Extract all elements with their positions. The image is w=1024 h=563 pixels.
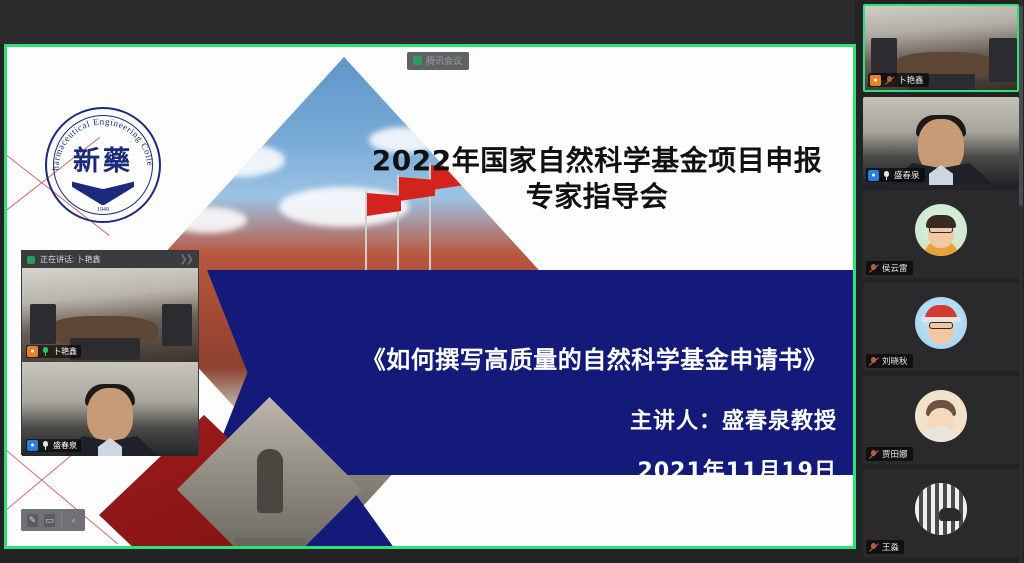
participant-tile[interactable]: 王淼 bbox=[863, 469, 1019, 557]
mic-muted-icon bbox=[868, 449, 879, 460]
participant-tile[interactable]: ● 盛春泉 bbox=[863, 97, 1019, 185]
participant-sidebar[interactable]: ● 卜艳鑫 正在讲话: 卜艳鑫 ❯❯ ● 盛春泉 bbox=[858, 0, 1024, 563]
presentation-slide: Pharmaceutical Engineering College 新藥 19… bbox=[7, 47, 853, 546]
slide-speaker: 主讲人：盛春泉教授 bbox=[417, 403, 837, 435]
annotation-toolbar[interactable]: ✎ ▭ ‹ bbox=[21, 509, 85, 531]
avatar bbox=[915, 483, 967, 535]
slide-headline: 2022年国家自然科学基金项目申报 专家指导会 bbox=[337, 143, 856, 215]
comment-icon[interactable]: ▭ bbox=[44, 514, 55, 527]
participant-name: 侯云雷 bbox=[882, 262, 908, 274]
mic-on-icon bbox=[41, 346, 50, 357]
participant-nametag: 刘晓秋 bbox=[866, 354, 913, 368]
floating-tile-nametag: ● 卜艳鑫 bbox=[26, 345, 81, 358]
collapse-arrow-icon[interactable]: ‹ bbox=[68, 514, 79, 527]
floating-video-tile[interactable]: ● 卜艳鑫 bbox=[22, 268, 198, 362]
headline-line-2: 专家指导会 bbox=[337, 179, 856, 215]
watermark-label: 腾讯会议 bbox=[426, 54, 462, 67]
tencent-logo-icon bbox=[413, 56, 422, 65]
slide-date: 2021年11月19日 bbox=[417, 453, 837, 485]
chevron-collapse-icon[interactable]: ❯❯ bbox=[179, 254, 192, 265]
logo-cn-text: 新藥 bbox=[47, 139, 159, 178]
participant-name: 王淼 bbox=[882, 541, 899, 553]
host-badge-icon: ● bbox=[27, 346, 38, 357]
participant-nametag: 王淼 bbox=[866, 540, 904, 554]
mic-muted-icon bbox=[868, 356, 879, 367]
participant-tile[interactable]: 贾田娜 bbox=[863, 376, 1019, 464]
mic-muted-icon bbox=[868, 263, 879, 274]
mic-muted-icon bbox=[884, 75, 895, 86]
participant-nametag: 贾田娜 bbox=[866, 447, 913, 461]
participant-tile[interactable]: 侯云雷 bbox=[863, 190, 1019, 278]
host-badge-icon: ● bbox=[870, 75, 881, 86]
participant-tile[interactable]: 刘晓秋 bbox=[863, 283, 1019, 371]
participant-name: 卜艳鑫 bbox=[898, 74, 924, 86]
floating-speaking-label: 正在讲话: 卜艳鑫 bbox=[40, 254, 100, 265]
avatar bbox=[915, 204, 967, 256]
member-badge-icon: ● bbox=[868, 170, 879, 181]
shared-screen-content: Pharmaceutical Engineering College 新藥 19… bbox=[7, 47, 853, 546]
participant-name: 贾田娜 bbox=[882, 448, 908, 460]
speaking-indicator-icon bbox=[27, 256, 35, 264]
floating-video-panel[interactable]: 正在讲话: 卜艳鑫 ❯❯ ● 卜艳鑫 bbox=[21, 250, 199, 455]
participant-nametag: 侯云雷 bbox=[866, 261, 913, 275]
participant-name: 盛春泉 bbox=[894, 169, 920, 181]
shared-screen-region[interactable]: Pharmaceutical Engineering College 新藥 19… bbox=[4, 44, 856, 549]
headline-line-1: 2022年国家自然科学基金项目申报 bbox=[372, 144, 822, 177]
floating-video-tile[interactable]: ● 盛春泉 bbox=[22, 362, 198, 456]
annotate-icon[interactable]: ✎ bbox=[27, 514, 38, 527]
participant-nametag: ● 盛春泉 bbox=[866, 168, 925, 182]
participant-name: 盛春泉 bbox=[53, 440, 77, 451]
participant-nametag: ● 卜艳鑫 bbox=[868, 73, 929, 87]
floating-tile-nametag: ● 盛春泉 bbox=[26, 439, 81, 452]
meeting-window: Pharmaceutical Engineering College 新藥 19… bbox=[0, 0, 1024, 563]
logo-year: 1949 bbox=[47, 207, 159, 213]
participant-name: 卜艳鑫 bbox=[53, 346, 77, 357]
mic-on-icon bbox=[41, 440, 50, 451]
toolbar-divider bbox=[61, 513, 62, 527]
avatar bbox=[915, 297, 967, 349]
mic-muted-icon bbox=[868, 542, 879, 553]
slide-subtitle: 《如何撰写高质量的自然科学基金申请书》 bbox=[327, 340, 856, 375]
window-top-strip bbox=[0, 0, 855, 44]
participant-name: 刘晓秋 bbox=[882, 355, 908, 367]
tencent-meeting-watermark: 腾讯会议 bbox=[407, 52, 469, 70]
avatar bbox=[915, 390, 967, 442]
college-logo: Pharmaceutical Engineering College 新藥 19… bbox=[45, 107, 161, 223]
participant-tile[interactable]: ● 卜艳鑫 bbox=[863, 4, 1019, 92]
sidebar-scrollbar-thumb[interactable] bbox=[1019, 6, 1023, 206]
floating-video-header: 正在讲话: 卜艳鑫 ❯❯ bbox=[22, 251, 198, 268]
mic-on-icon bbox=[882, 170, 891, 181]
member-badge-icon: ● bbox=[27, 440, 38, 451]
